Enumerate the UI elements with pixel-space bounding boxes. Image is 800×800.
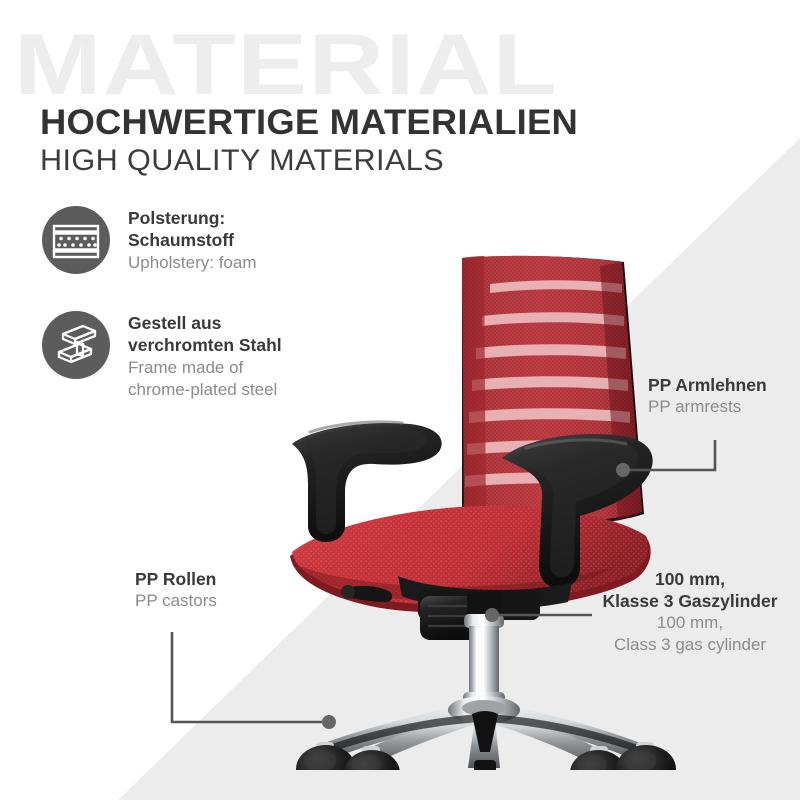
callout-label-en: 100 mm, Class 3 gas cylinder (592, 612, 788, 655)
callout-armrests: PP Armlehnen PP armrests (648, 374, 767, 417)
feature-text-upholstery: Polsterung: Schaumstoff Upholstery: foam (128, 206, 257, 274)
feature-label-de: Gestell aus verchromten Stahl (128, 312, 282, 356)
page-title-en: HIGH QUALITY MATERIALS (40, 144, 444, 178)
feature-label-de: Polsterung: Schaumstoff (128, 207, 257, 251)
callout-castors: PP Rollen PP castors (135, 568, 217, 611)
feature-label-en: Upholstery: foam (128, 252, 257, 274)
steel-ibeam-icon (42, 311, 110, 379)
watermark-text: MATERIAL (14, 16, 558, 115)
foam-cushion-icon (42, 206, 110, 274)
callout-label-de: PP Armlehnen (648, 374, 767, 396)
callout-label-en: PP armrests (648, 396, 767, 417)
page-title-de: HOCHWERTIGE MATERIALIEN (40, 103, 578, 143)
product-image-office-chair (250, 240, 680, 770)
feature-item-frame: Gestell aus verchromten Stahl Frame made… (42, 311, 282, 401)
infographic-page: MATERIAL HOCHWERTIGE MATERIALIEN HIGH QU… (0, 0, 800, 800)
feature-item-upholstery: Polsterung: Schaumstoff Upholstery: foam (42, 206, 257, 274)
chair-gas-cylinder (463, 592, 505, 710)
feature-text-frame: Gestell aus verchromten Stahl Frame made… (128, 311, 282, 401)
feature-label-en: Frame made of chrome-plated steel (128, 357, 282, 400)
callout-label-de: 100 mm, Klasse 3 Gaszylinder (592, 568, 788, 612)
callout-label-en: PP castors (135, 590, 217, 611)
callout-gas-cylinder: 100 mm, Klasse 3 Gaszylinder 100 mm, Cla… (592, 568, 788, 655)
callout-label-de: PP Rollen (135, 568, 217, 590)
